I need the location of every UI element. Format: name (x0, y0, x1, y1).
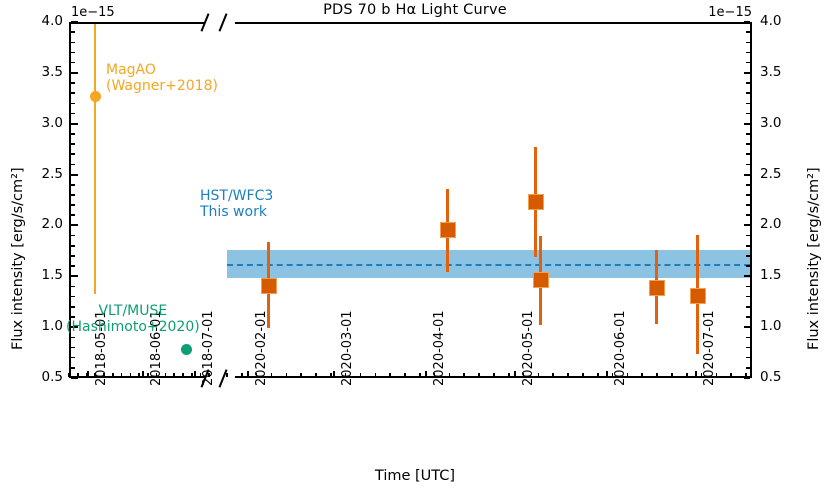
y-tick-major (744, 326, 751, 328)
x-tick-minor (68, 373, 70, 377)
y-tick-minor (71, 214, 75, 216)
x-tick-minor (567, 373, 569, 377)
y-tick-minor (746, 265, 750, 267)
y-tick-major (744, 224, 751, 226)
y-tick-minor (71, 337, 75, 339)
x-tick-major (514, 371, 516, 378)
x-tick-label: 2020-04-01 (432, 310, 447, 386)
x-tick-major (247, 371, 249, 378)
annotation-magao-line2: (Wagner+2018) (106, 78, 218, 94)
x-tick-minor (404, 373, 406, 377)
y-tick-minor (71, 357, 75, 359)
y-tick-minor (71, 164, 75, 166)
x-tick-minor (330, 373, 332, 377)
x-tick-minor (508, 373, 510, 377)
datapoint-hst-3 (528, 194, 544, 210)
y-tick-label: 2.0 (23, 216, 63, 232)
y-tick-label: 0.5 (760, 369, 800, 385)
x-tick-minor (241, 373, 243, 377)
x-tick-minor (138, 373, 140, 377)
x-tick-minor (121, 373, 123, 377)
y-tick-minor (71, 52, 75, 54)
y-axis-offset-left: 1e−15 (71, 5, 115, 20)
y-tick-label: 1.5 (23, 267, 63, 283)
y-tick-minor (71, 296, 75, 298)
y-tick-minor (746, 31, 750, 33)
y-tick-minor (746, 113, 750, 115)
y-tick-minor (71, 245, 75, 247)
y-tick-minor (746, 133, 750, 135)
y-tick-major (71, 21, 78, 23)
y-axis-title-left: Flux intensity [erg/s/cm²] (10, 167, 26, 350)
x-tick-minor (449, 373, 451, 377)
y-tick-major (71, 72, 78, 74)
y-tick-minor (71, 113, 75, 115)
x-tick-minor (552, 373, 554, 377)
y-tick-minor (746, 153, 750, 155)
annotation-hst-wfc3: HST/WFC3 This work (200, 188, 273, 220)
y-tick-minor (746, 296, 750, 298)
y-tick-minor (71, 42, 75, 44)
y-tick-label: 2.5 (760, 166, 800, 182)
mean-flux-line (227, 264, 750, 266)
x-tick-minor (360, 373, 362, 377)
y-tick-minor (71, 82, 75, 84)
y-tick-label: 4.0 (760, 13, 800, 29)
annotation-hst-line2: This work (200, 204, 273, 220)
y-tick-minor (746, 62, 750, 64)
x-tick-minor (419, 373, 421, 377)
x-tick-minor (730, 373, 732, 377)
y-tick-minor (746, 92, 750, 94)
y-tick-minor (746, 194, 750, 196)
y-tick-minor (746, 103, 750, 105)
y-tick-minor (746, 316, 750, 318)
y-tick-label: 3.5 (23, 64, 63, 80)
y-tick-label: 1.5 (760, 267, 800, 283)
light-curve-figure: PDS 70 b Hα Light Curve 1e−15 1e−15 (0, 0, 830, 499)
y-tick-minor (746, 52, 750, 54)
y-tick-label: 2.5 (23, 166, 63, 182)
y-tick-minor (71, 347, 75, 349)
x-tick-minor (130, 373, 132, 377)
datapoint-hst-1 (261, 278, 277, 294)
y-tick-major (744, 174, 751, 176)
y-tick-minor (71, 367, 75, 369)
x-tick-major (142, 371, 144, 378)
x-tick-minor (656, 373, 658, 377)
x-tick-minor (641, 373, 643, 377)
x-tick-major (87, 371, 89, 378)
datapoint-vlt-muse (181, 344, 192, 355)
y-tick-minor (746, 82, 750, 84)
x-tick-minor (226, 373, 228, 377)
x-tick-minor (165, 373, 167, 377)
x-tick-minor (538, 373, 540, 377)
y-tick-major (71, 377, 78, 379)
y-tick-minor (71, 184, 75, 186)
y-tick-minor (746, 245, 750, 247)
y-tick-minor (71, 235, 75, 237)
y-tick-minor (71, 153, 75, 155)
errorbar-magao (94, 24, 96, 294)
y-tick-major (71, 123, 78, 125)
x-tick-minor (191, 373, 193, 377)
datapoint-hst-5 (649, 280, 665, 296)
y-tick-major (744, 21, 751, 23)
x-tick-major (425, 371, 427, 378)
y-tick-minor (71, 103, 75, 105)
y-tick-minor (746, 214, 750, 216)
y-tick-minor (71, 62, 75, 64)
x-tick-minor (671, 373, 673, 377)
x-tick-label: 2018-07-01 (201, 310, 216, 386)
y-tick-minor (746, 357, 750, 359)
plot-panel-2020 (227, 22, 752, 378)
y-tick-major (71, 275, 78, 277)
y-tick-minor (746, 143, 750, 145)
y-tick-label: 3.0 (760, 115, 800, 131)
y-tick-major (744, 275, 751, 277)
y-tick-label: 4.0 (23, 13, 63, 29)
y-tick-minor (71, 265, 75, 267)
y-tick-minor (71, 133, 75, 135)
datapoint-hst-6 (690, 288, 706, 304)
y-tick-minor (71, 143, 75, 145)
y-tick-major (744, 123, 751, 125)
y-tick-minor (746, 235, 750, 237)
x-tick-label: 2020-03-01 (340, 310, 355, 386)
y-tick-minor (746, 306, 750, 308)
x-tick-minor (686, 373, 688, 377)
x-tick-minor (300, 373, 302, 377)
y-tick-minor (746, 164, 750, 166)
x-tick-minor (315, 373, 317, 377)
y-tick-minor (746, 337, 750, 339)
y-tick-label: 3.0 (23, 115, 63, 131)
annotation-vlt-line1: VLT/MUSE (66, 303, 200, 319)
y-tick-minor (746, 367, 750, 369)
y-tick-label: 0.5 (23, 369, 63, 385)
y-tick-major (744, 72, 751, 74)
chart-title: PDS 70 b Hα Light Curve (0, 2, 830, 18)
y-tick-major (744, 377, 751, 379)
x-tick-minor (463, 373, 465, 377)
x-tick-minor (389, 373, 391, 377)
x-tick-minor (582, 373, 584, 377)
y-tick-minor (746, 204, 750, 206)
annotation-magao-line1: MagAO (106, 62, 156, 78)
x-tick-label: 2020-05-01 (521, 310, 536, 386)
x-tick-minor (112, 373, 114, 377)
y-tick-label: 1.0 (760, 318, 800, 334)
annotation-vlt-muse: VLT/MUSE (Hashimoto+2020) (66, 303, 200, 335)
x-tick-label: 2020-06-01 (613, 310, 628, 386)
y-tick-minor (746, 347, 750, 349)
x-tick-major (333, 371, 335, 378)
annotation-magao: MagAO (Wagner+2018) (106, 62, 218, 94)
x-tick-minor (375, 373, 377, 377)
x-tick-major (606, 371, 608, 378)
x-tick-minor (286, 373, 288, 377)
x-axis-title: Time [UTC] (0, 468, 830, 484)
datapoint-magao (90, 91, 101, 102)
x-tick-minor (597, 373, 599, 377)
x-tick-label: 2020-07-01 (702, 310, 717, 386)
y-tick-minor (71, 92, 75, 94)
datapoint-hst-4 (533, 272, 549, 288)
x-tick-major (194, 371, 196, 378)
annotation-hst-line1: HST/WFC3 (200, 188, 273, 204)
y-tick-major (71, 174, 78, 176)
annotation-vlt-line2: (Hashimoto+2020) (66, 319, 200, 335)
y-axis-title-right: Flux intensity [erg/s/cm²] (806, 167, 822, 350)
datapoint-hst-2 (440, 222, 456, 238)
y-tick-label: 1.0 (23, 318, 63, 334)
y-tick-minor (71, 31, 75, 33)
x-tick-minor (182, 373, 184, 377)
y-tick-minor (71, 204, 75, 206)
y-tick-minor (746, 42, 750, 44)
y-tick-label: 2.0 (760, 216, 800, 232)
y-axis-offset-right: 1e−15 (708, 5, 752, 20)
x-tick-minor (493, 373, 495, 377)
y-tick-major (71, 224, 78, 226)
y-tick-minor (746, 255, 750, 257)
x-tick-minor (271, 373, 273, 377)
x-tick-major (695, 371, 697, 378)
y-tick-minor (71, 255, 75, 257)
x-tick-minor (173, 373, 175, 377)
y-tick-minor (746, 184, 750, 186)
x-tick-minor (77, 373, 79, 377)
y-tick-label: 3.5 (760, 64, 800, 80)
x-tick-label: 2020-02-01 (254, 310, 269, 386)
y-tick-minor (746, 286, 750, 288)
y-tick-minor (71, 286, 75, 288)
x-tick-minor (478, 373, 480, 377)
y-tick-minor (71, 194, 75, 196)
x-tick-minor (745, 373, 747, 377)
